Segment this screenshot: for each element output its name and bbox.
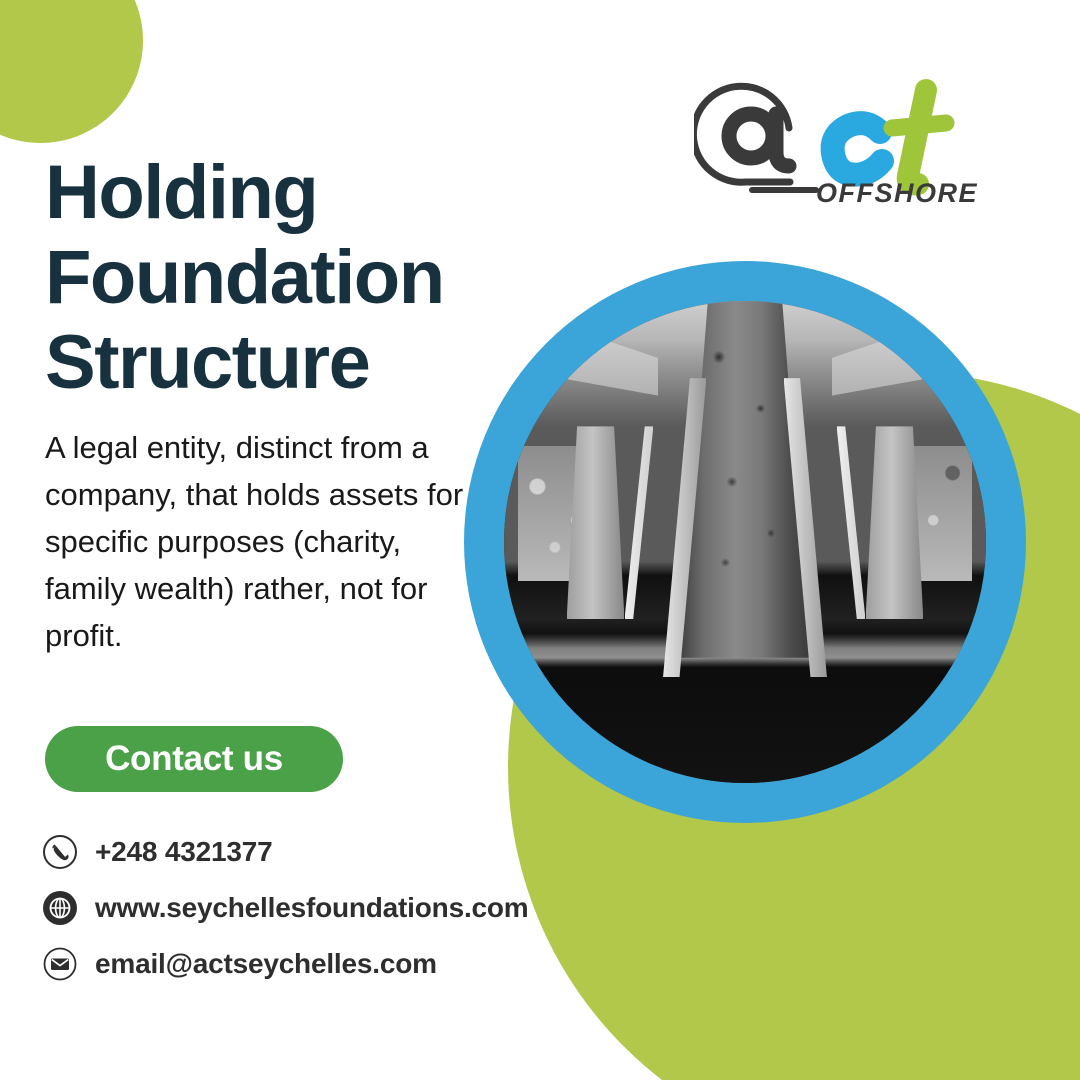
headline-line-3: Structure [45,320,369,405]
poster-canvas: OFFSHORE Holding Foundation Structure A … [0,0,1080,1080]
central-pillar [680,301,810,658]
globe-icon [41,889,79,927]
envelope-icon [41,945,79,983]
contact-us-button[interactable]: Contact us [45,726,343,792]
phone-number: +248 4321377 [95,836,272,868]
email-address: email@actseychelles.com [95,948,437,980]
phone-icon [41,833,79,871]
act-offshore-logo: OFFSHORE [694,66,980,216]
side-strut-left [625,426,654,619]
contact-item-phone[interactable]: +248 4321377 [41,824,661,880]
contact-item-email[interactable]: email@actseychelles.com [41,936,661,992]
contact-item-website[interactable]: www.seychellesfoundations.com [41,880,661,936]
contact-list: +248 4321377 www.seychellesfoundations.c… [41,824,661,992]
headline-line-1: Holding [45,150,317,235]
ceiling-beam-right [832,315,957,440]
website-url: www.seychellesfoundations.com [95,892,529,924]
bridge-photo-artwork [504,301,986,783]
headline-line-2: Foundation [45,235,444,320]
body-description: A legal entity, distinct from a company,… [45,424,475,660]
decorative-green-circle-top-left [0,0,143,143]
page-title: Holding Foundation Structure [45,150,565,405]
side-strut-right [837,426,866,619]
logo-tagline: OFFSHORE [816,178,978,208]
bridge-photo [504,301,986,783]
